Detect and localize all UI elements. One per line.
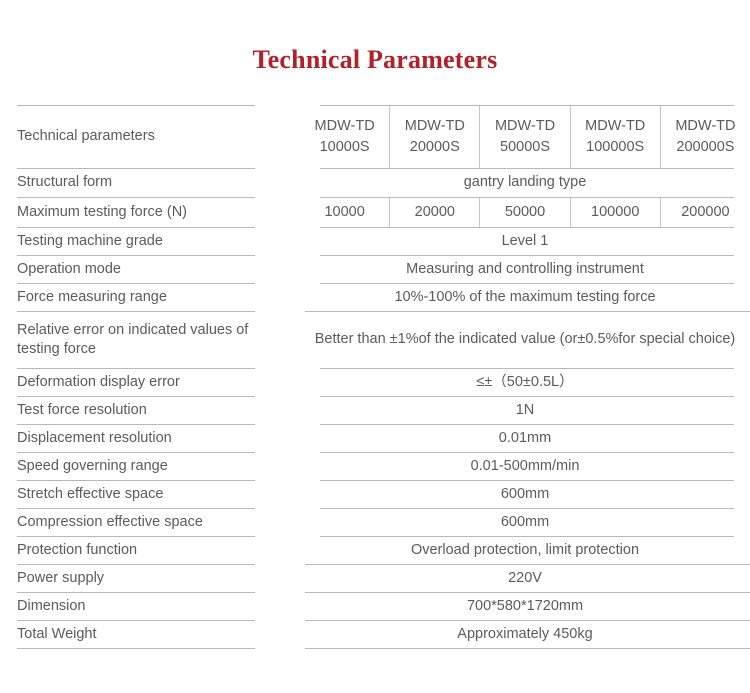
rule-left [17,480,255,481]
model-number: 20000S [410,137,460,158]
row-value-cell: Overload protection, limit protection [300,536,750,564]
row-value-cell: 220V [300,564,750,592]
rule-left [17,564,255,565]
row-label-cell: Deformation display error [0,368,300,396]
row-value-cell: Measuring and controlling instrument [300,255,750,283]
rule-left [17,396,255,397]
model-series: MDW-TD [585,116,645,137]
table-row: Relative error on indicated values of te… [0,311,750,368]
rule-right [320,424,734,425]
rule-right [320,368,734,369]
row-value-cell: Approximately 450kg [300,620,750,648]
table-row: Displacement resolution 0.01mm [0,424,750,452]
table-row: Stretch effective space 600mm [0,480,750,508]
row-value: Better than ±1%of the indicated value (o… [305,330,745,349]
row-value-cell: 700*580*1720mm [300,592,750,620]
table-row: Protection function Overload protection,… [0,536,750,564]
row-value: 0.01-500mm/min [300,457,750,476]
rule-left [17,536,255,537]
model-series: MDW-TD [405,116,465,137]
row-value: 600mm [300,485,750,504]
rule-right [320,508,734,509]
model-list: MDW-TD 10000S MDW-TD 20000S MDW-TD 50000… [300,105,750,168]
model-number: 50000S [500,137,550,158]
table-row: Compression effective space 600mm [0,508,750,536]
row-value: 700*580*1720mm [300,597,750,616]
table-row: Structural form gantry landing type [0,168,750,197]
row-label: Deformation display error [17,369,255,396]
max-force-cell: 100000 [571,197,661,227]
row-value: 600mm [300,513,750,532]
rule-left-bottom [17,648,255,649]
row-label-cell: Operation mode [0,255,300,283]
row-value-cell: 10%-100% of the maximum testing force [300,283,750,311]
row-value: ≤±（50±0.5L） [300,373,750,392]
row-label: Dimension [17,593,255,620]
model-number: 10000S [320,137,370,158]
table-row: Maximum testing force (N) 10000 20000 50… [0,197,750,227]
technical-parameters-table: Technical parameters MDW-TD 10000S MDW-T… [0,105,750,648]
row-value: Measuring and controlling instrument [300,260,750,279]
model-cell: MDW-TD 20000S [390,105,480,168]
table-row: Deformation display error ≤±（50±0.5L） [0,368,750,396]
row-value: Overload protection, limit protection [300,541,750,560]
row-label: Relative error on indicated values of te… [17,317,255,363]
row-value-cell: 0.01mm [300,424,750,452]
row-label-cell: Testing machine grade [0,227,300,255]
row-value-cell: ≤±（50±0.5L） [300,368,750,396]
row-value-cell: 600mm [300,480,750,508]
rule-right [320,452,734,453]
row-label-cell: Displacement resolution [0,424,300,452]
row-label-cell: Total Weight [0,620,300,648]
rule-left [17,508,255,509]
rule-right [320,227,734,228]
left-header-label: Technical parameters [17,123,255,150]
table-row: Force measuring range 10%-100% of the ma… [0,283,750,311]
row-label: Power supply [17,565,255,592]
rule-right [305,592,750,593]
rule-left [17,368,255,369]
rule-right [320,536,734,537]
row-value-cell: Better than ±1%of the indicated value (o… [300,311,750,368]
rule-left [17,452,255,453]
rule-right [320,480,734,481]
table-row: Test force resolution 1N [0,396,750,424]
rule-right [320,396,734,397]
rule-left [17,592,255,593]
row-value: Level 1 [300,232,750,251]
row-label: Total Weight [17,621,255,648]
row-label: Stretch effective space [17,481,255,508]
row-label-cell: Dimension [0,592,300,620]
row-label: Test force resolution [17,397,255,424]
row-value-cell: 10000 20000 50000 100000 200000 [300,197,750,227]
row-value: 0.01mm [300,429,750,448]
row-label: Protection function [17,537,255,564]
rule-left [17,255,255,256]
table-header-row: Technical parameters MDW-TD 10000S MDW-T… [0,105,750,168]
model-cell: MDW-TD 200000S [661,105,750,168]
rule-right [320,283,734,284]
row-label: Maximum testing force (N) [17,199,255,226]
table-row: Dimension 700*580*1720mm [0,592,750,620]
row-label-cell: Test force resolution [0,396,300,424]
row-label-cell: Power supply [0,564,300,592]
row-value-cell: 0.01-500mm/min [300,452,750,480]
model-cell: MDW-TD 10000S [300,105,390,168]
rule-left-top [17,105,255,106]
rule-right [320,197,734,198]
rule-right [320,255,734,256]
rule-right-bottom [305,648,750,649]
max-force-cell: 20000 [390,197,480,227]
model-header-cells: MDW-TD 10000S MDW-TD 20000S MDW-TD 50000… [300,105,750,168]
row-value: 220V [300,569,750,588]
row-label: Operation mode [17,256,255,283]
row-label: Displacement resolution [17,425,255,452]
model-number: 200000S [676,137,734,158]
row-value-cell: Level 1 [300,227,750,255]
row-label-cell: Force measuring range [0,283,300,311]
row-label: Force measuring range [17,284,255,311]
model-series: MDW-TD [675,116,735,137]
row-label-cell: Relative error on indicated values of te… [0,311,300,368]
rule-right [305,564,750,565]
row-label: Testing machine grade [17,228,255,255]
row-label: Structural form [17,169,255,196]
rule-right [305,311,750,312]
max-force-cell: 50000 [480,197,570,227]
table-row: Testing machine grade Level 1 [0,227,750,255]
rule-left [17,620,255,621]
rule-right-top [320,105,734,106]
rule-left [17,197,255,198]
max-force-cell: 200000 [661,197,750,227]
model-cell: MDW-TD 50000S [480,105,570,168]
max-force-cell: 10000 [300,197,390,227]
row-value: Approximately 450kg [300,625,750,644]
row-label-cell: Speed governing range [0,452,300,480]
row-label-cell: Protection function [0,536,300,564]
row-label-cell: Maximum testing force (N) [0,197,300,227]
row-label-cell: Stretch effective space [0,480,300,508]
row-value-cell: gantry landing type [300,168,750,197]
model-number: 100000S [586,137,644,158]
row-label-cell: Compression effective space [0,508,300,536]
model-series: MDW-TD [495,116,555,137]
row-value: 10%-100% of the maximum testing force [300,288,750,307]
model-cell: MDW-TD 100000S [571,105,661,168]
table-row: Speed governing range 0.01-500mm/min [0,452,750,480]
left-header-cell: Technical parameters [0,105,300,168]
table-row: Total Weight Approximately 450kg [0,620,750,648]
table-row: Operation mode Measuring and controlling… [0,255,750,283]
row-value: gantry landing type [300,173,750,192]
row-label: Compression effective space [17,509,255,536]
rule-right [305,620,750,621]
rule-left [17,168,255,169]
row-value: 1N [300,401,750,420]
model-series: MDW-TD [315,116,375,137]
page-title: Technical Parameters [0,0,750,75]
rule-left [17,227,255,228]
rule-left [17,424,255,425]
rule-right [320,168,734,169]
row-label: Speed governing range [17,453,255,480]
max-force-list: 10000 20000 50000 100000 200000 [300,197,750,227]
row-label-cell: Structural form [0,168,300,197]
row-value-cell: 1N [300,396,750,424]
rule-left [17,311,255,312]
rule-left [17,283,255,284]
row-value-cell: 600mm [300,508,750,536]
table-row: Power supply 220V [0,564,750,592]
